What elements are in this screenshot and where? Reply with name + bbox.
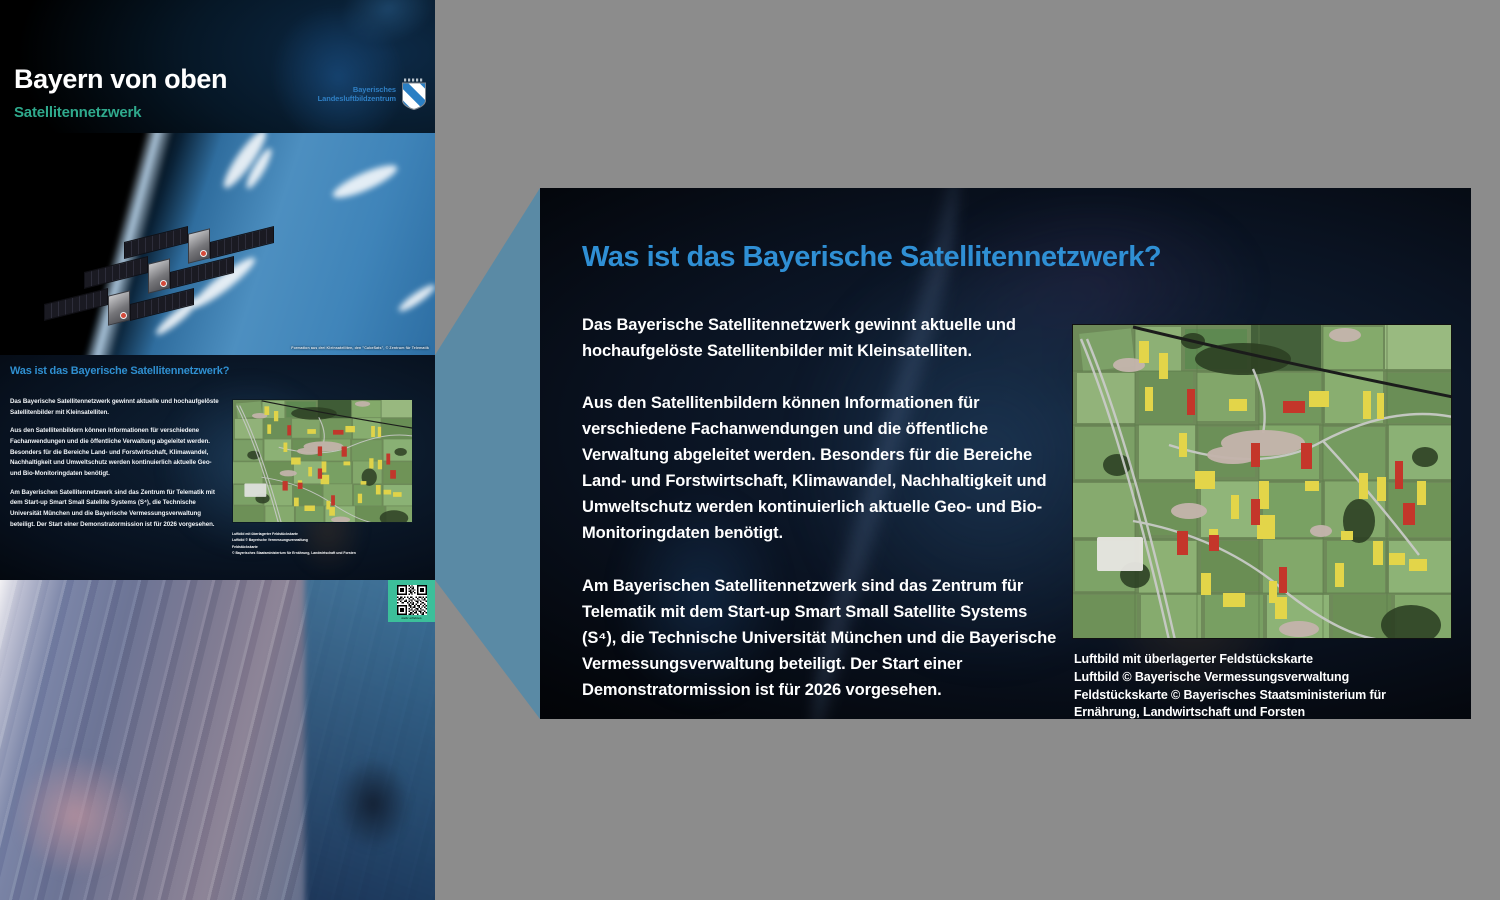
slide-subtitle: Satellitennetzwerk [14,105,141,120]
aerial-map-graphic [233,400,413,523]
panel-paragraph: Aus den Satellitenbildern können Informa… [582,390,1062,546]
thumbnail-paragraph: Am Bayerischen Satellitennetzwerk sind d… [10,488,220,531]
qr-code-icon[interactable] [397,585,427,615]
organisation-logo: Bayerisches Landesluftbildzentrum [318,78,427,110]
thumbnail-body-text: Das Bayerische Satellitennetzwerk gewinn… [10,397,220,530]
slide-thumbnail[interactable]: Bayern von oben Satellitennetzwerk Bayer… [0,0,435,900]
panel-heading: Was ist das Bayerische Satellitennetzwer… [582,241,1161,274]
satellite-photo-credit: Formation aus drei Kleinsatelliten, den … [291,346,429,350]
enlarged-slide-panel: Was ist das Bayerische Satellitennetzwer… [540,188,1471,719]
panel-paragraph: Am Bayerischen Satellitennetzwerk sind d… [582,573,1062,703]
thumbnail-paragraph: Das Bayerische Satellitennetzwerk gewinn… [10,397,220,418]
thumbnail-content-block: Was ist das Bayerische Satellitennetzwer… [0,355,435,580]
terrain-shadow [295,740,425,900]
aerial-field-map-large [1072,324,1452,639]
earth-terrain-photo: mehr erfahren [0,580,435,900]
thumbnail-heading: Was ist das Bayerische Satellitennetzwer… [10,365,229,377]
aerial-map-graphic-large [1073,325,1452,639]
panel-paragraph: Das Bayerische Satellitennetzwerk gewinn… [582,312,1062,364]
thumbnail-aerial-caption: Luftbild mit überlagerter Feldstückskart… [232,531,417,556]
terrain-highlight [0,730,180,900]
qr-code-panel[interactable]: mehr erfahren [388,580,435,622]
logo-text: Bayerisches Landesluftbildzentrum [318,85,396,104]
bavarian-coat-of-arms-icon [401,78,427,110]
panel-aerial-caption: Luftbild mit überlagerter Feldstückskart… [1074,651,1464,719]
header-nebula-decoration [220,0,435,133]
slide-title: Bayern von oben [14,66,227,93]
satellite-formation-photo: Formation aus drei Kleinsatelliten, den … [0,133,435,355]
thumbnail-header: Bayern von oben Satellitennetzwerk Bayer… [0,0,435,133]
panel-body-text: Das Bayerische Satellitennetzwerk gewinn… [582,312,1062,703]
thumbnail-paragraph: Aus den Satellitenbildern können Informa… [10,426,220,479]
aerial-field-map-thumbnail [232,399,413,523]
qr-code-label: mehr erfahren [401,616,421,620]
slide-canvas: Bayern von oben Satellitennetzwerk Bayer… [0,0,1500,900]
